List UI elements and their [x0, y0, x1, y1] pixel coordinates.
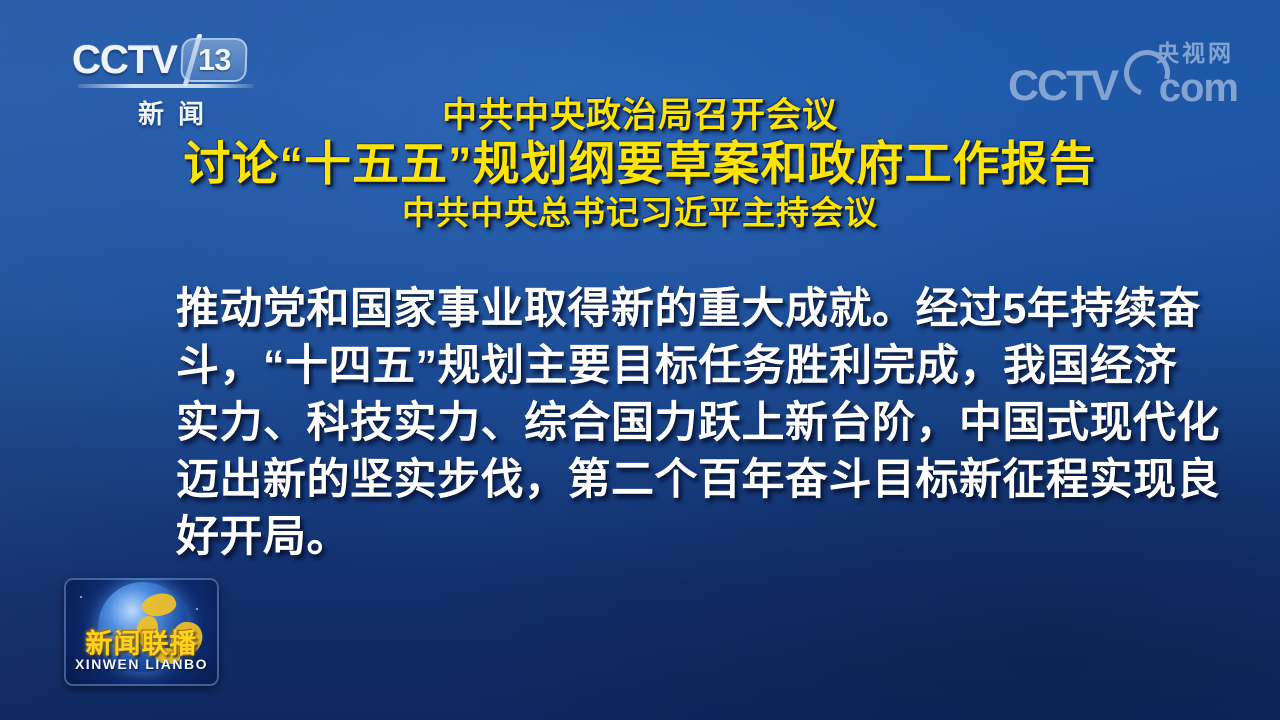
headline-line-3: 中共中央总书记习近平主持会议	[0, 196, 1280, 229]
body-line: 迈出新的坚实步伐，第二个百年奋斗目标新征程实现良	[176, 452, 1136, 509]
star-icon	[196, 608, 198, 610]
xinwen-lianbo-bug: 新闻联播 XINWEN LIANBO	[64, 578, 219, 686]
body-line: 好开局。	[176, 509, 1136, 566]
headline-block: 中共中央政治局召开会议 讨论“十五五”规划纲要草案和政府工作报告 中共中央总书记…	[0, 98, 1280, 229]
channel-number-badge: 13	[180, 38, 248, 82]
cctv-underbar	[78, 84, 254, 88]
headline-line-1: 中共中央政治局召开会议	[0, 98, 1280, 133]
body-line: 实力、科技实力、综合国力跃上新台阶，中国式现代化	[176, 395, 1136, 452]
cctv13-logo-row: CCTV 13	[72, 36, 272, 84]
cctv-wordmark: CCTV	[72, 40, 177, 80]
cctv-com-chinese: 央视网	[1156, 34, 1234, 68]
body-line: 斗，“十四五”规划主要目标任务胜利完成，我国经济	[176, 338, 1136, 395]
body-line: 推动党和国家事业取得新的重大成就。经过5年持续奋	[176, 281, 1136, 338]
broadcast-screen: CCTV 13 新闻 CCTV 央视网 com 中共中央政治局召开会议 讨论“十…	[0, 0, 1280, 720]
program-title-pinyin: XINWEN LIANBO	[64, 656, 219, 672]
star-icon	[80, 596, 82, 598]
body-copy-block: 推动党和国家事业取得新的重大成就。经过5年持续奋 斗，“十四五”规划主要目标任务…	[176, 281, 1136, 566]
channel-number: 13	[198, 42, 230, 78]
headline-line-2: 讨论“十五五”规划纲要草案和政府工作报告	[0, 140, 1280, 187]
